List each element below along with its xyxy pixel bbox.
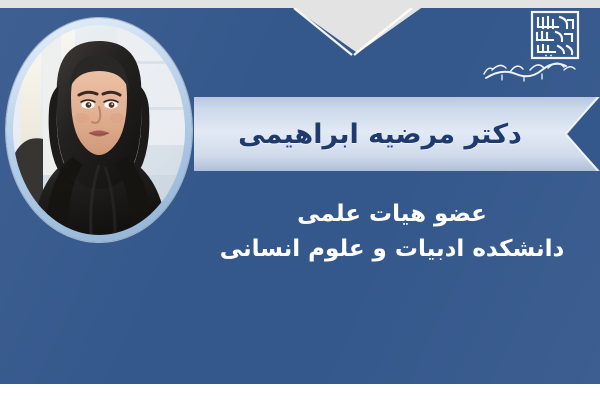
faculty-profile-card: دکتر مرضیه ابراهیمی عضو هیات علمی دانشکد… [0, 0, 600, 400]
avatar-photo [13, 25, 185, 235]
subtitle-role: عضو هیات علمی [196, 198, 588, 231]
university-logo [480, 8, 588, 92]
faculty-subtitle: عضو هیات علمی دانشکده ادبیات و علوم انسا… [196, 198, 588, 265]
faculty-name: دکتر مرضیه ابراهیمی [194, 97, 566, 171]
avatar [6, 18, 192, 242]
portrait-illustration-icon [13, 25, 185, 235]
subtitle-department: دانشکده ادبیات و علوم انسانی [196, 233, 588, 266]
shahid-beheshti-university-logo-icon [480, 8, 588, 92]
